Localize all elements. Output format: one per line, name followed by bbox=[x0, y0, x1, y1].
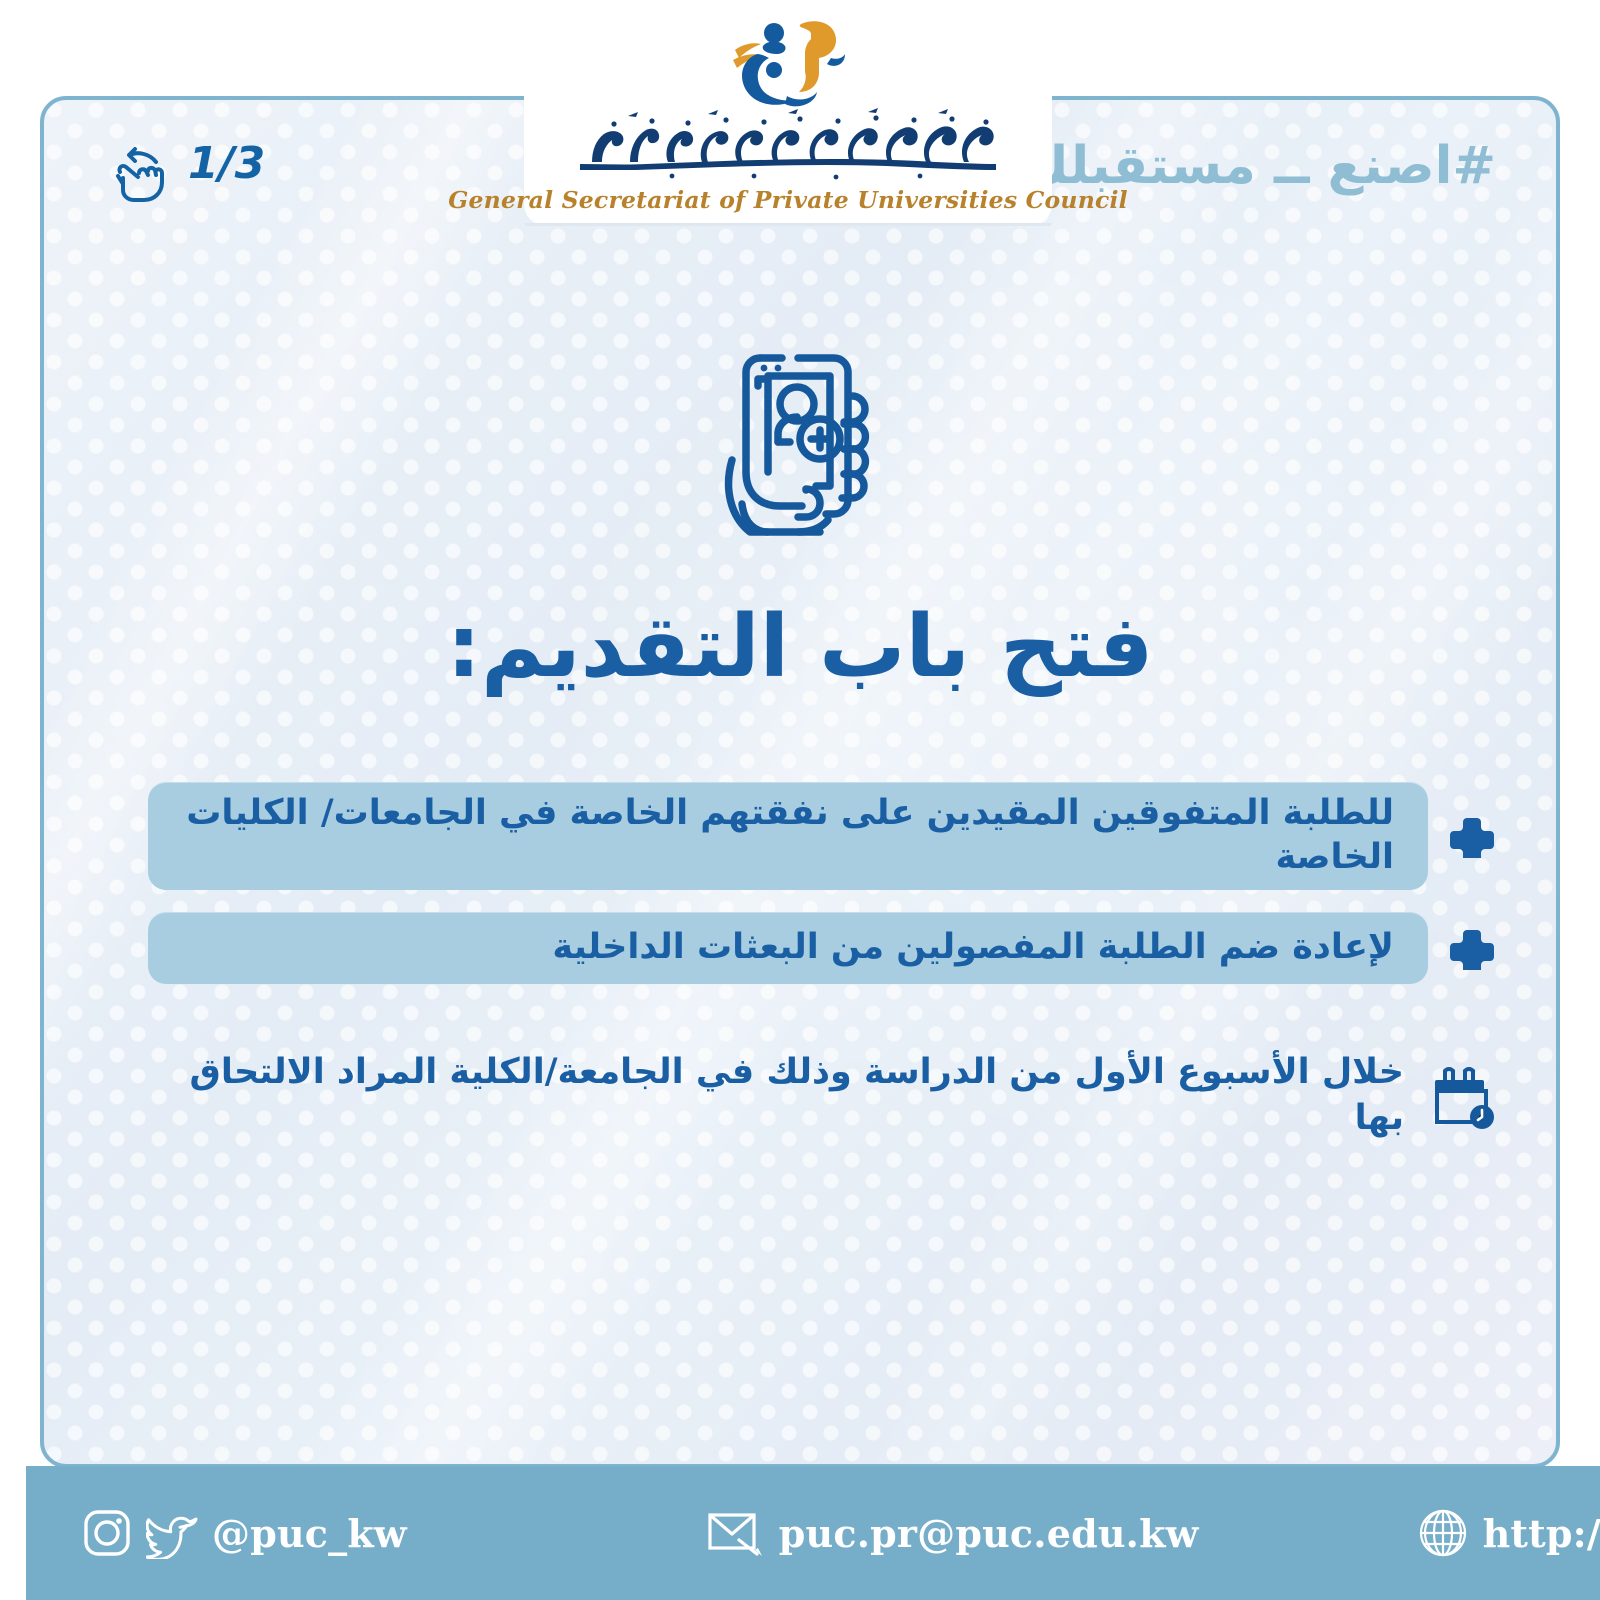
website-url[interactable]: http://www.puc.edu.kw bbox=[1483, 1511, 1600, 1556]
globe-icon[interactable] bbox=[1417, 1507, 1469, 1559]
page-indicator: 1/3 bbox=[106, 138, 265, 210]
footer-website-group: http://www.puc.edu.kw bbox=[1417, 1507, 1600, 1559]
instagram-icon[interactable] bbox=[82, 1508, 132, 1558]
list-item: لإعادة ضم الطلبة المفصولين من البعثات ال… bbox=[148, 912, 1494, 984]
calendar-clock-icon bbox=[1428, 1063, 1494, 1129]
social-handle[interactable]: @puc_kw bbox=[212, 1511, 407, 1556]
page-counter: 1/3 bbox=[188, 142, 265, 186]
list-item: للطلبة المتفوقين المقيدين على نفقتهم الخ… bbox=[148, 782, 1494, 890]
envelope-pencil-icon[interactable] bbox=[707, 1510, 765, 1556]
page-title: فتح باب التقديم: bbox=[44, 598, 1556, 696]
organization-arabic-name: الأمانة العامة لمجلس الجامعات الخاصة bbox=[568, 106, 1008, 184]
twitter-bird-icon[interactable] bbox=[146, 1507, 198, 1559]
hero-icon-container bbox=[44, 338, 1556, 564]
contact-email[interactable]: puc.pr@puc.edu.kw bbox=[779, 1511, 1199, 1556]
organization-logo-plaque: الأمانة العامة لمجلس الجامعات الخاصة bbox=[524, 0, 1052, 226]
poster-canvas: 1/3 #اصنع ــ مستقبلك bbox=[0, 0, 1600, 1600]
plus-bullet-icon bbox=[1450, 926, 1494, 970]
puc-monogram-logo bbox=[727, 14, 849, 110]
bullet-pill: للطلبة المتفوقين المقيدين على نفقتهم الخ… bbox=[148, 782, 1428, 890]
deadline-note: خلال الأسبوع الأول من الدراسة وذلك في ال… bbox=[148, 1050, 1494, 1141]
swipe-left-hand-icon bbox=[106, 138, 178, 210]
plus-bullet-icon bbox=[1450, 814, 1494, 858]
bullet-list: للطلبة المتفوقين المقيدين على نفقتهم الخ… bbox=[148, 782, 1494, 1006]
footer-email-group: puc.pr@puc.edu.kw bbox=[707, 1510, 1199, 1556]
poster-card: 1/3 #اصنع ــ مستقبلك bbox=[40, 96, 1560, 1468]
deadline-note-text: خلال الأسبوع الأول من الدراسة وذلك في ال… bbox=[148, 1050, 1404, 1141]
footer-social-group: @puc_kw bbox=[82, 1507, 407, 1559]
organization-english-name: General Secretariat of Private Universit… bbox=[448, 186, 1128, 214]
footer-contact-bar: @puc_kw puc.pr@puc.edu.kw bbox=[26, 1466, 1600, 1600]
bullet-pill: لإعادة ضم الطلبة المفصولين من البعثات ال… bbox=[148, 912, 1428, 984]
hand-holding-phone-add-user-icon bbox=[702, 338, 898, 564]
